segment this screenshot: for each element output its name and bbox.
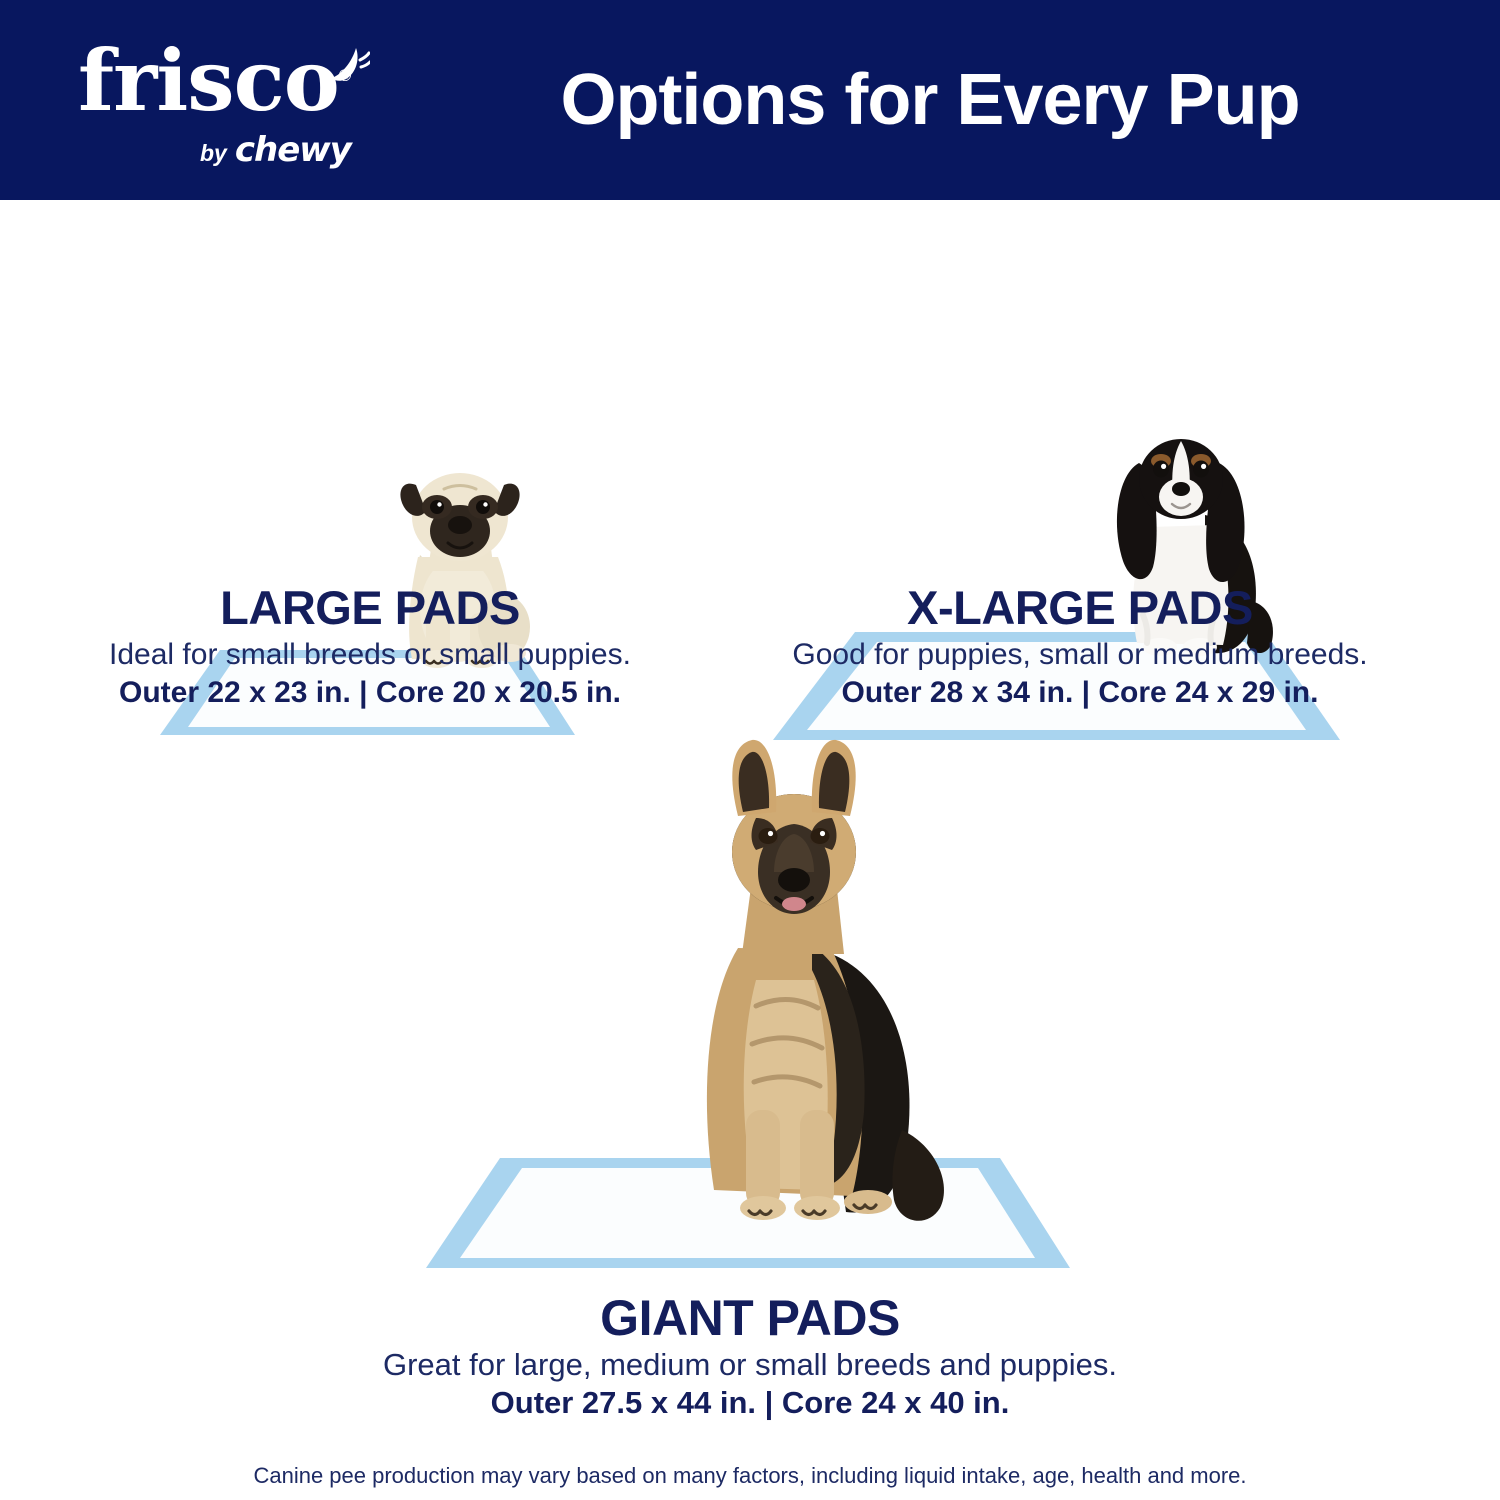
product-text-large: LARGE PADS Ideal for small breeds or sma… bbox=[40, 580, 700, 712]
product-scene-giant bbox=[390, 720, 1110, 1300]
dog-german-shepherd-illustration bbox=[606, 730, 1026, 1250]
disclaimer-text: Canine pee production may vary based on … bbox=[0, 1462, 1500, 1490]
product-text-giant: GIANT PADS Great for large, medium or sm… bbox=[180, 1290, 1320, 1422]
product-dimensions-large: Outer 22 x 23 in. | Core 20 x 20.5 in. bbox=[40, 674, 700, 712]
product-dimensions-xlarge: Outer 28 x 34 in. | Core 24 x 29 in. bbox=[700, 674, 1460, 712]
logo-chewy-wordmark: chewy bbox=[235, 130, 351, 170]
product-description-large: Ideal for small breeds or small puppies. bbox=[40, 636, 700, 674]
logo-by-label: by bbox=[200, 140, 227, 167]
brand-name: frisco bbox=[78, 31, 339, 130]
logo-subline: by chewy bbox=[200, 130, 351, 170]
product-dimensions-giant: Outer 27.5 x 44 in. | Core 24 x 40 in. bbox=[180, 1384, 1320, 1422]
product-title-giant: GIANT PADS bbox=[180, 1290, 1320, 1346]
product-description-giant: Great for large, medium or small breeds … bbox=[180, 1346, 1320, 1384]
product-infographic: frisco® by chewy Options for Every Pup bbox=[0, 0, 1500, 1500]
brand-wordmark: frisco® bbox=[78, 38, 350, 124]
tail-swoosh-icon bbox=[326, 44, 370, 84]
product-text-xlarge: X-LARGE PADS Good for puppies, small or … bbox=[700, 580, 1460, 712]
content-area: LARGE PADS Ideal for small breeds or sma… bbox=[0, 200, 1500, 1500]
product-title-large: LARGE PADS bbox=[40, 580, 700, 636]
frisco-logo: frisco® by chewy bbox=[78, 38, 378, 166]
product-title-xlarge: X-LARGE PADS bbox=[700, 580, 1460, 636]
page-title-text: Options for Every Pup bbox=[560, 59, 1299, 141]
product-description-xlarge: Good for puppies, small or medium breeds… bbox=[700, 636, 1460, 674]
page-title: Options for Every Pup bbox=[400, 0, 1500, 200]
header-bar: frisco® by chewy Options for Every Pup bbox=[0, 0, 1500, 200]
